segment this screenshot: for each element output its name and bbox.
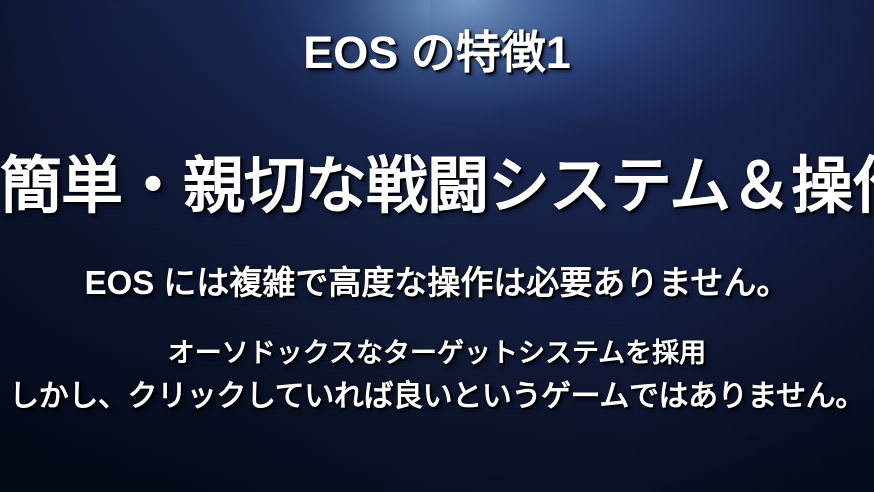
slide-headline: 簡単・親切な戦闘システム＆操作性 (0, 156, 874, 218)
slide-body-line-2: オーソドックスなターゲットシステムを採用 (0, 340, 874, 367)
slide-title: EOS の特徴1 (0, 30, 874, 75)
slide-body-line-1: EOS には複雑で高度な操作は必要ありません。 (0, 266, 874, 299)
slide-body-line-3: しかし、クリックしていれば良いというゲームではありません。 (0, 382, 874, 412)
presentation-slide: EOS の特徴1 簡単・親切な戦闘システム＆操作性 EOS には複雑で高度な操作… (0, 0, 874, 492)
slide-content: EOS の特徴1 簡単・親切な戦闘システム＆操作性 EOS には複雑で高度な操作… (0, 0, 874, 492)
